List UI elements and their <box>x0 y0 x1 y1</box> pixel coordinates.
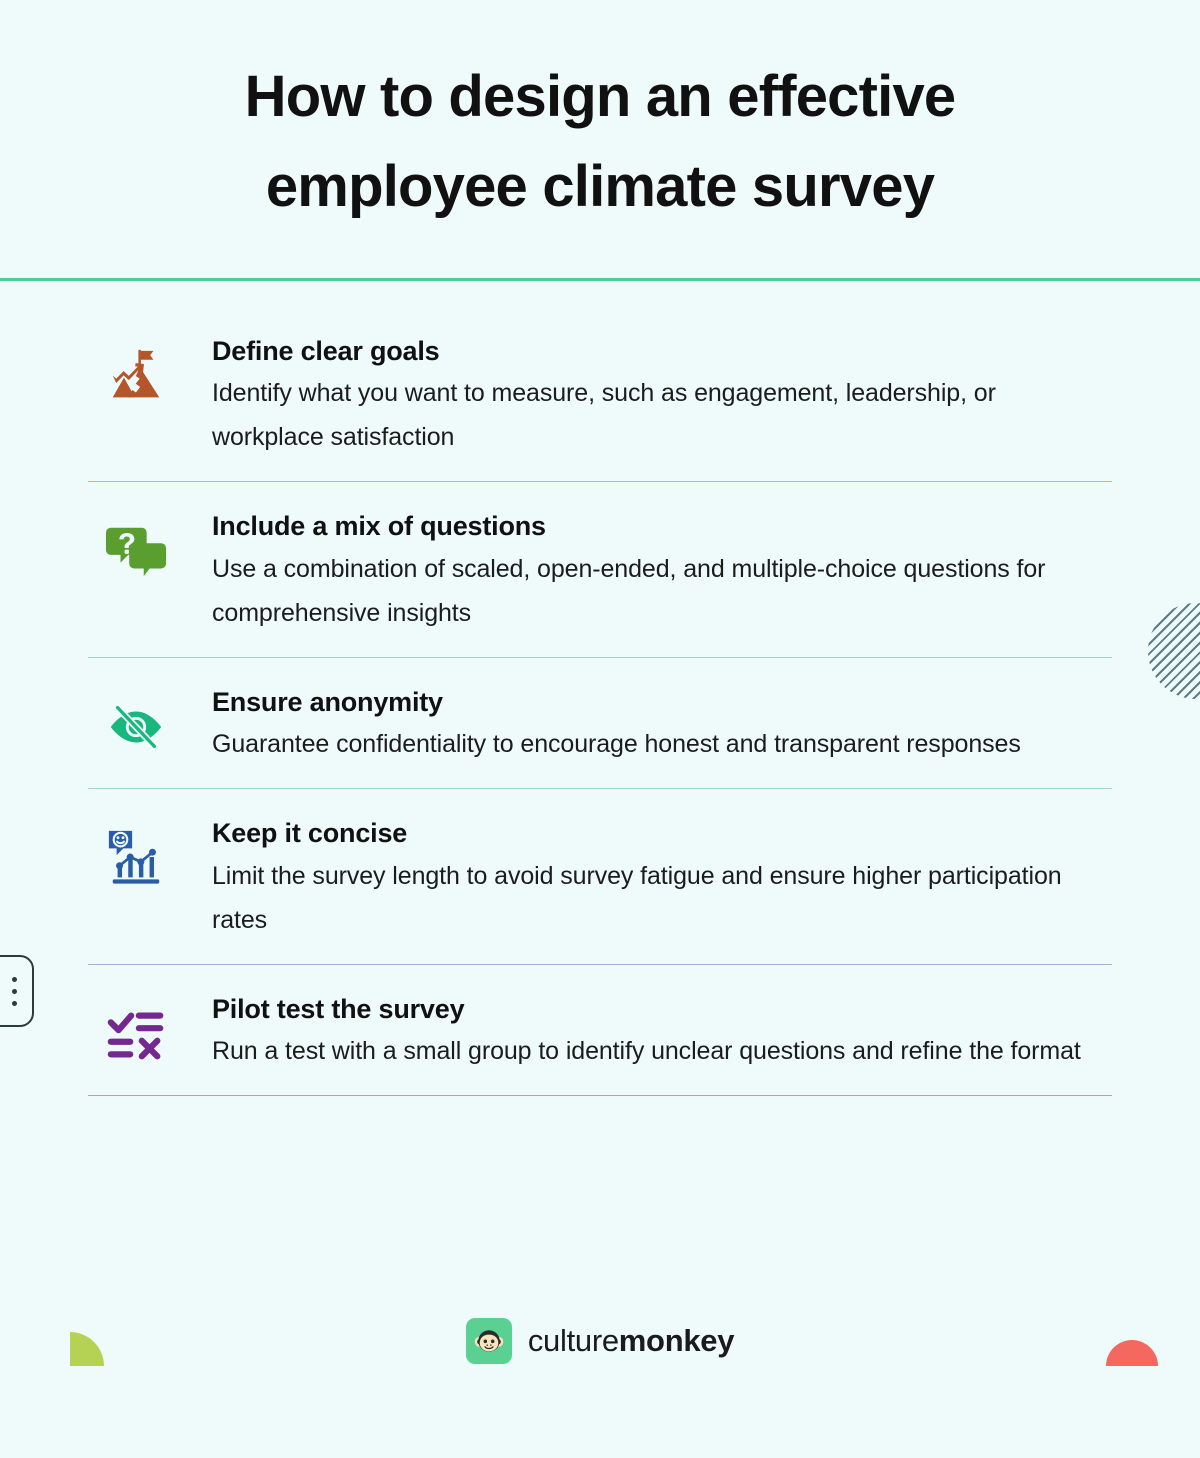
list-item-body: Keep it concise Limit the survey length … <box>184 815 1112 941</box>
list-item: Keep it concise Limit the survey length … <box>88 815 1112 963</box>
list-divider <box>88 1095 1112 1096</box>
mountain-flag-icon <box>88 333 184 407</box>
list-divider <box>88 964 1112 965</box>
list-item-title: Include a mix of questions <box>212 508 1102 544</box>
list-item-description: Use a combination of scaled, open-ended,… <box>212 545 1102 635</box>
brand-monkey: monkey <box>619 1323 734 1358</box>
list-item-title: Pilot test the survey <box>212 991 1102 1027</box>
list-item-body: Define clear goals Identify what you wan… <box>184 333 1112 459</box>
list-item-description: Guarantee confidentiality to encourage h… <box>212 720 1102 766</box>
list-divider <box>88 788 1112 789</box>
list-item-title: Ensure anonymity <box>212 684 1102 720</box>
speech-bubbles-question-icon <box>88 508 184 582</box>
dot <box>12 989 17 994</box>
tips-list: Define clear goals Identify what you wan… <box>0 281 1200 1096</box>
monkey-face-icon <box>466 1318 512 1364</box>
eye-off-icon <box>88 684 184 758</box>
list-item-body: Ensure anonymity Guarantee confidentiali… <box>184 684 1112 766</box>
brand-culture: culture <box>528 1323 619 1358</box>
footer: culturemonkey <box>0 1318 1200 1364</box>
list-divider <box>88 481 1112 482</box>
list-item: Define clear goals Identify what you wan… <box>88 333 1112 481</box>
list-item-title: Keep it concise <box>212 815 1102 851</box>
list-item: Pilot test the survey Run a test with a … <box>88 991 1112 1095</box>
page-title: How to design an effective employee clim… <box>0 0 1200 232</box>
list-item-description: Run a test with a small group to identif… <box>212 1027 1102 1073</box>
dot <box>12 977 17 982</box>
dot <box>12 1001 17 1006</box>
list-item-description: Limit the survey length to avoid survey … <box>212 852 1102 942</box>
checklist-icon <box>88 991 184 1065</box>
list-item-body: Include a mix of questions Use a combina… <box>184 508 1112 634</box>
list-item-description: Identify what you want to measure, such … <box>212 369 1102 459</box>
list-divider <box>88 657 1112 658</box>
brand-wordmark: culturemonkey <box>528 1323 734 1359</box>
list-item-body: Pilot test the survey Run a test with a … <box>184 991 1112 1073</box>
list-item-title: Define clear goals <box>212 333 1102 369</box>
more-vertical-icon[interactable] <box>0 955 34 1027</box>
list-item: Include a mix of questions Use a combina… <box>88 508 1112 656</box>
bar-chart-smiley-icon <box>88 815 184 889</box>
list-item: Ensure anonymity Guarantee confidentiali… <box>88 684 1112 788</box>
